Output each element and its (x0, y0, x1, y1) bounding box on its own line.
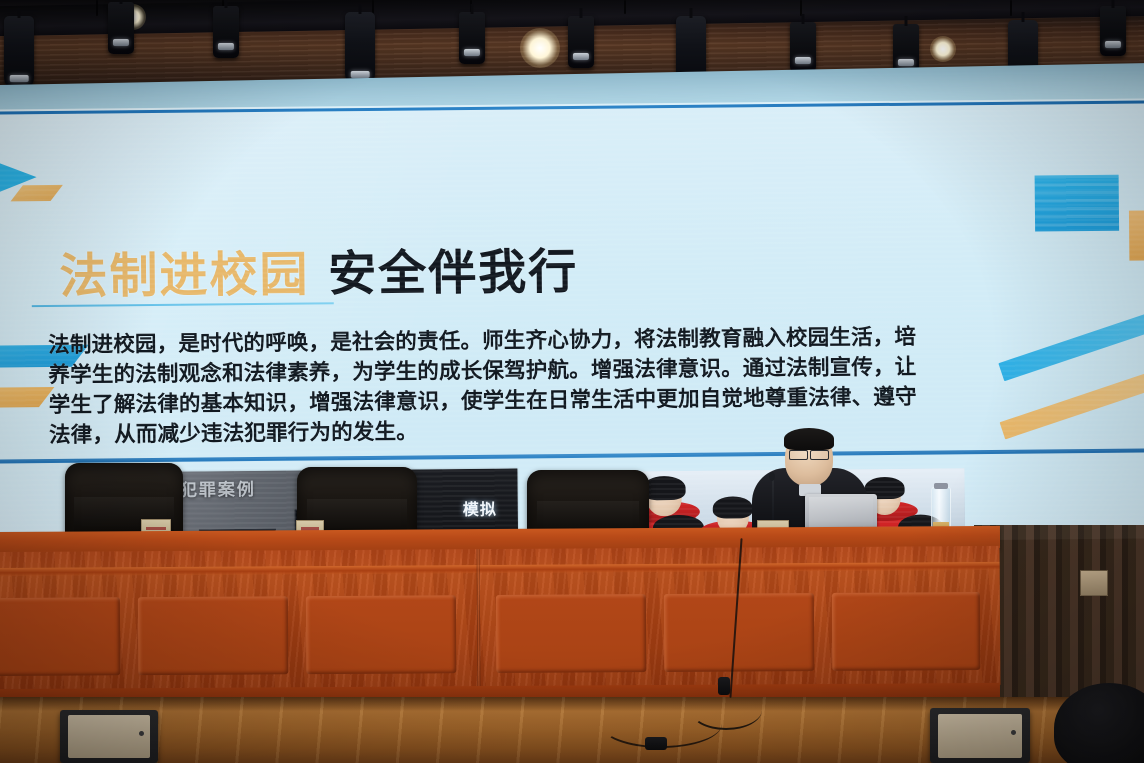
spotlight (4, 16, 34, 90)
arrow-shape-decoration (0, 135, 37, 220)
spotlight (213, 6, 239, 58)
block-decoration (1035, 175, 1120, 232)
screen-bottom-border (0, 448, 1144, 463)
spotlight (1100, 6, 1126, 56)
wall-plate (1080, 570, 1108, 596)
podium-panel (0, 597, 120, 676)
podium-panel (832, 592, 980, 671)
slide-title-highlight: 法制进校园 (59, 247, 310, 305)
microphone-icon (769, 472, 775, 481)
stage-monitor-speaker (60, 710, 158, 763)
spotlight (568, 16, 594, 68)
podium-panel (496, 594, 646, 673)
lamp-cable (624, 0, 626, 14)
podium-panel (306, 595, 456, 674)
microphone-stem (772, 478, 774, 522)
lamp-cable (1010, 0, 1012, 16)
podium-panel (664, 593, 814, 672)
cable-connector-box (718, 677, 730, 695)
spotlight (459, 12, 485, 64)
cable-connector-box (645, 737, 667, 750)
spotlight (790, 22, 816, 72)
spotlight (345, 12, 375, 86)
glasses-icon (789, 450, 808, 460)
auditorium-photo: 法制进校园 安全伴我行 法制进校园，是时代的呼唤，是社会的责任。师生齐心协力，将… (0, 0, 1144, 763)
lamp-glow-icon (520, 28, 560, 68)
stage-monitor-speaker (930, 708, 1030, 763)
lamp-cable (96, 0, 98, 16)
presenter-hair (784, 428, 834, 450)
podium-front-panel (0, 546, 1000, 691)
lamp-glow-icon (930, 36, 956, 62)
slide-title: 法制进校园 安全伴我行 (59, 232, 578, 307)
podium-panel (138, 596, 288, 675)
parallelogram-decoration (0, 387, 54, 408)
block-decoration (1129, 210, 1144, 260)
glasses-icon (810, 450, 829, 460)
stripe-decoration (998, 300, 1144, 382)
photo-side-caption: 模拟 (463, 501, 497, 519)
spotlight (108, 2, 134, 54)
slide-title-rest: 安全伴我行 (328, 244, 579, 302)
